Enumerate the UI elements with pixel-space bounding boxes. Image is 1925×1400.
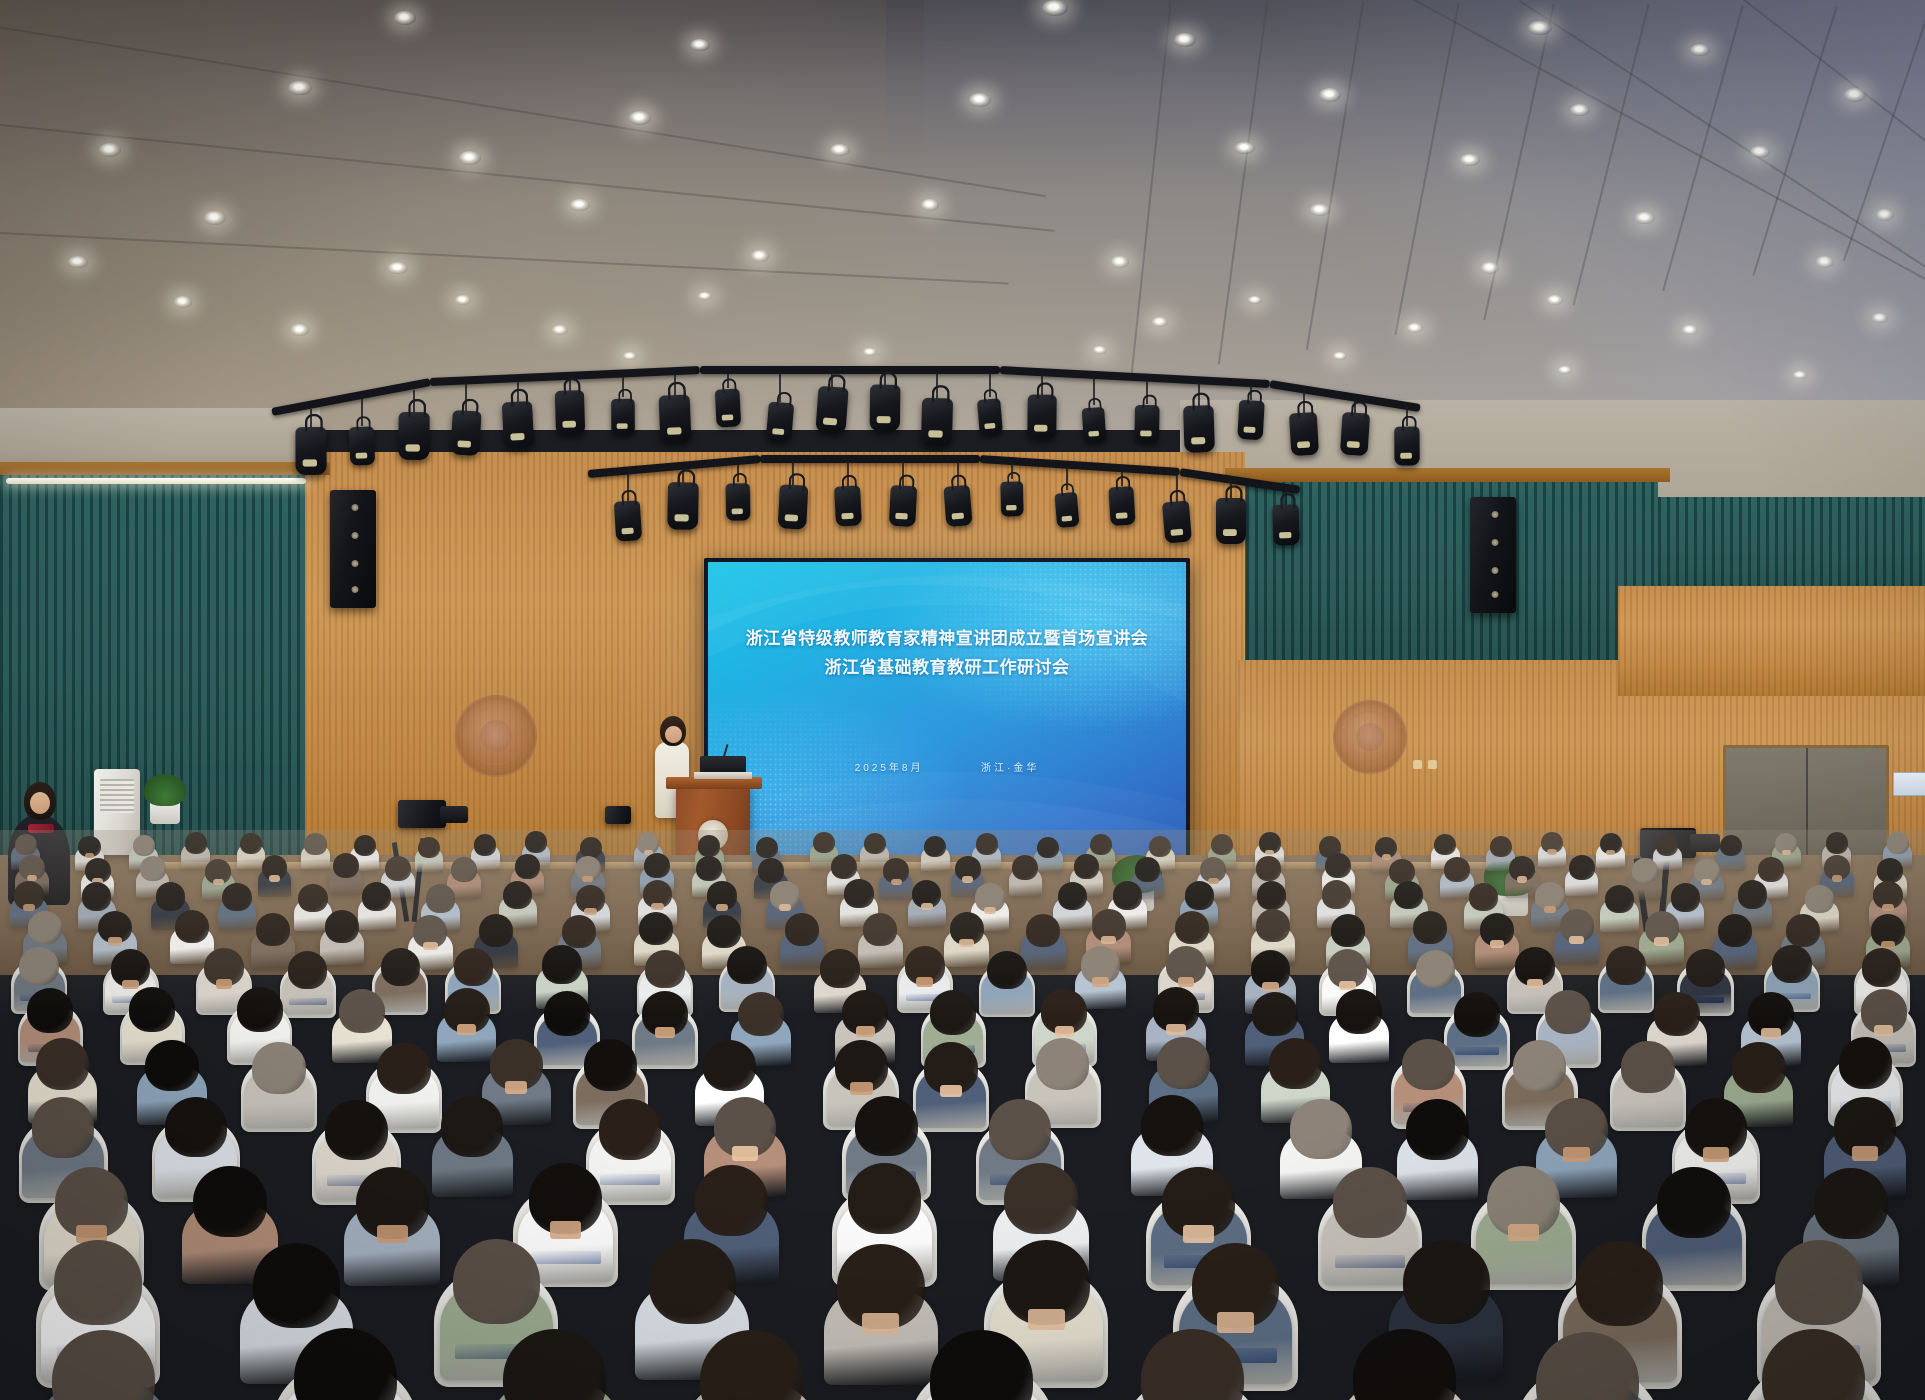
truss-front-fixture (398, 412, 429, 460)
truss-front-fixture (1134, 404, 1159, 442)
audience-member-head (1656, 835, 1678, 856)
audience-member-head (1402, 1039, 1455, 1091)
audience-member-head (237, 987, 283, 1032)
truss-rear-fixture (1162, 501, 1192, 544)
audience-member-head (1403, 1240, 1490, 1325)
audience-member-head (1732, 1042, 1785, 1094)
camera-lens-left (440, 806, 468, 823)
audience-member-head (1157, 1037, 1210, 1089)
audience-member-neck (862, 1313, 899, 1334)
audience-member-head (738, 992, 784, 1037)
screen-title-block: 浙江省特级教师教育家精神宣讲团成立暨首场宣讲会 浙江省基础教育教研工作研讨会 (708, 628, 1186, 680)
audience-member-neck (122, 980, 139, 989)
audience-member-head (256, 913, 290, 946)
audience-member-neck (457, 1024, 476, 1035)
ceiling-downlight (1690, 44, 1710, 56)
wall-trim-right (1225, 468, 1670, 482)
audience-member-head (1671, 883, 1700, 912)
audience-member-neck (1517, 876, 1528, 882)
audience-member-neck (651, 903, 663, 910)
audience-member-head (333, 853, 359, 878)
audience-member-head (165, 1097, 228, 1158)
audience-member-head (1545, 990, 1591, 1035)
audience-member-head (145, 1040, 198, 1092)
audience-member-head (503, 881, 532, 910)
audience-member-neck (1208, 878, 1219, 884)
audience-member-head (354, 835, 376, 856)
truss-front-fixture (977, 398, 1003, 436)
ceiling-downlight (459, 151, 481, 165)
audience-member-head (645, 950, 685, 988)
audience-member-neck (23, 904, 35, 911)
truss-rear-fixture (888, 485, 916, 527)
audience-member-head (1469, 883, 1498, 912)
truss-rear-fixture (1216, 498, 1246, 544)
audience-member-head (453, 1239, 540, 1324)
audience-member-neck (1101, 936, 1115, 944)
audience-member-neck (1178, 977, 1195, 986)
audience-member-neck (85, 853, 94, 858)
audience-member-head (1012, 855, 1038, 880)
audience-member-head (1322, 880, 1351, 909)
audience-member-neck (505, 1081, 527, 1094)
audience-member-head (381, 948, 421, 986)
truss-rear-fixture (943, 485, 972, 527)
audience-member-neck (1183, 1225, 1214, 1243)
ceiling-downlight (388, 262, 408, 274)
ceiling-downlight (1481, 262, 1499, 273)
screen-date: 2025年8月 (855, 759, 924, 774)
truss-front-fixture (1289, 412, 1319, 456)
ceiling-downlight (1750, 146, 1770, 158)
ceiling-downlight (1876, 209, 1894, 220)
audience-member-neck (856, 1026, 875, 1037)
audience-member-head (1269, 1038, 1322, 1090)
truss-front-fixture (869, 385, 900, 432)
audience-member-neck (1569, 936, 1583, 944)
truss-rear-fixture (725, 483, 750, 521)
audience-member-neck (1563, 1147, 1589, 1162)
audience-member-neck (584, 908, 596, 915)
line-array-speaker-left (330, 490, 376, 608)
audience-member-head (1720, 835, 1742, 856)
audience-member-head (140, 856, 166, 881)
audience-member-neck (1382, 854, 1391, 859)
audience-member-neck (921, 903, 933, 910)
audience-member-head (820, 949, 860, 987)
audience-member-head (1185, 881, 1214, 910)
ceiling-downlight (921, 199, 939, 210)
audience-member-head (1141, 1095, 1204, 1156)
wall-marker-b (1428, 760, 1437, 769)
audience-member-head (28, 911, 62, 944)
audience-member-head (1413, 911, 1447, 944)
truss-front-fixture (1340, 412, 1370, 456)
audience-member-head (298, 884, 327, 913)
audience-member-neck (1262, 982, 1279, 991)
audience-member-neck (779, 904, 791, 911)
truss-rear-fixture (1108, 486, 1135, 526)
truss-front-bar (700, 366, 1000, 374)
audience-member-head (855, 1096, 918, 1157)
ceiling-downlight (1547, 295, 1563, 305)
audience-member-neck (962, 876, 973, 882)
ceiling-downlight (552, 325, 568, 335)
audience-member-neck (1092, 977, 1109, 986)
audience-member-head (1576, 1241, 1663, 1326)
led-stage-screen: 浙江省特级教师教育家精神宣讲团成立暨首场宣讲会 浙江省基础教育教研工作研讨会 2… (704, 558, 1190, 866)
audience-member-head (1569, 855, 1595, 880)
audience-member-head (758, 858, 784, 883)
audience-member-neck (1782, 850, 1791, 855)
audience-member-head (785, 913, 819, 946)
audience-member-neck (1701, 879, 1712, 885)
audience-member-head (1839, 1037, 1892, 1089)
truss-front-fixture (555, 390, 586, 436)
audience-member-head (1887, 832, 1909, 853)
audience-member-head (377, 1043, 430, 1095)
truss-rear-fixture (1055, 492, 1080, 528)
audience-member-head (989, 1099, 1052, 1160)
truss-front-fixture (1238, 400, 1265, 440)
audience-member-head (1336, 989, 1382, 1034)
audience-member-neck (1265, 850, 1274, 855)
audience-member-head (426, 884, 455, 913)
audience-member-neck (1852, 1146, 1878, 1161)
audience-member-head (385, 856, 411, 881)
audience-member-neck (1882, 904, 1894, 911)
audience-member-neck (1527, 979, 1544, 988)
audience-member-head (1632, 858, 1658, 883)
usher-face (30, 792, 50, 814)
audience-member-head (976, 833, 998, 854)
ceiling-downlight (1570, 104, 1590, 116)
audience-member-head (1026, 914, 1060, 947)
ceiling-downlight (1319, 88, 1341, 102)
audience-member-head (175, 910, 209, 943)
audience-member-head (1331, 914, 1365, 947)
audience-member-head (1444, 857, 1470, 882)
audience-member-head (542, 945, 582, 983)
audience-member-head (1606, 946, 1646, 984)
ceiling-downlight (1042, 0, 1068, 16)
audience-member-head (304, 833, 326, 854)
truss-front-fixture (1394, 427, 1420, 466)
audience-member-neck (850, 1082, 872, 1095)
wall-trim-left (0, 462, 330, 475)
handheld-camera-center (605, 806, 631, 824)
audience-member-head (696, 856, 722, 881)
ceiling-downlight (1635, 212, 1655, 224)
audience-member-head (1758, 857, 1784, 882)
truss-front-fixture (714, 389, 741, 428)
audience-member-neck (213, 879, 224, 885)
audience-member-head (1621, 1041, 1674, 1093)
audience-member-head (698, 835, 720, 856)
truss-front-fixture (1082, 407, 1107, 443)
audience-member-head (599, 1099, 662, 1160)
truss-front-fixture (1183, 405, 1215, 453)
ceiling-downlight (1310, 204, 1330, 216)
line-array-speaker-right (1470, 497, 1516, 613)
audience-member-neck (916, 977, 933, 986)
audience-member-head (580, 837, 602, 858)
audience-member-head (727, 946, 767, 984)
audience-member-head (1718, 914, 1752, 947)
audience-member-head (1654, 992, 1700, 1037)
audience-member-head (1036, 1038, 1089, 1090)
audience-member-head (562, 915, 596, 948)
ceiling-downlight (1174, 33, 1196, 47)
wall-emblem-left (455, 695, 537, 777)
truss-front-fixture (659, 394, 692, 443)
audience-member-head (707, 915, 741, 948)
ceiling-downlight (1152, 317, 1168, 327)
ceiling-downlight (1816, 256, 1834, 267)
audience-member-neck (1166, 1024, 1185, 1035)
ceiling-downlight (1460, 154, 1480, 166)
audience-member-head (54, 1240, 141, 1325)
audience-member-head (1605, 885, 1634, 914)
truss-rear-fixture (667, 482, 699, 530)
audience-member-neck (1508, 1224, 1539, 1242)
audience-member-head (1149, 836, 1171, 857)
truss-rear-fixture (777, 485, 808, 530)
screen-location: 浙江·金华 (981, 759, 1039, 774)
audience-member-head (1333, 1167, 1407, 1238)
audience-member-head (525, 831, 547, 852)
screen-dot-texture (708, 562, 1186, 862)
audience-member-head (695, 1165, 769, 1236)
audience-member-neck (940, 1085, 962, 1098)
audience-member-head (1325, 853, 1351, 878)
truss-rear-fixture (614, 500, 642, 541)
audience-member-head (1826, 832, 1848, 853)
wall-light-strip-left (6, 478, 306, 484)
audience-member-head (864, 833, 886, 854)
audience-member-head (15, 834, 37, 855)
audience-member-head (240, 833, 262, 854)
audience-member-head (515, 854, 541, 879)
audience-member-head (454, 948, 494, 986)
audience-member-head (649, 1239, 736, 1324)
wall-marker-a (1413, 760, 1422, 769)
audience-member-head (1090, 834, 1112, 855)
audience-member-head (1252, 992, 1298, 1037)
audience-member-neck (959, 939, 973, 947)
audience-member-head (1058, 882, 1087, 911)
audience-member-neck (1055, 1026, 1074, 1037)
ceiling-downlight (68, 256, 88, 268)
ceiling-cool-tint (924, 0, 1925, 430)
audience-member-head (474, 834, 496, 855)
audience-member-head (1389, 859, 1415, 884)
audience-member-head (831, 854, 857, 879)
audience-member-neck (1028, 1309, 1065, 1330)
audience-member-neck (1654, 937, 1668, 945)
audience-member-head (185, 832, 207, 853)
audience-member-head (1786, 914, 1820, 947)
audience-member-head (1814, 1168, 1888, 1239)
audience-member-head (479, 914, 513, 947)
audience-member-neck (1217, 1312, 1254, 1333)
audience-member-head (813, 832, 835, 853)
audience-member-head (1257, 881, 1286, 910)
ceiling-downlight (204, 211, 226, 225)
audience-member-head (339, 989, 385, 1034)
truss-front-fixture (502, 401, 535, 449)
audience-member-head (544, 991, 590, 1036)
ceiling-downlight (751, 250, 769, 261)
ceiling-downlight (1111, 256, 1129, 267)
audience-member-head (1211, 834, 1233, 855)
truss-rear-fixture (1272, 504, 1300, 545)
audience-member-head (1113, 881, 1142, 910)
ceiling-downlight (1872, 313, 1888, 323)
ceiling-downlight (570, 199, 590, 211)
audience-member-head (441, 1096, 504, 1157)
truss-front-fixture (450, 410, 481, 456)
audience-member-head (288, 951, 328, 989)
truss-front-fixture (766, 401, 795, 442)
audience-member-head (1805, 885, 1834, 914)
audience-member-neck (1832, 875, 1843, 881)
audience-member-head (1772, 945, 1812, 983)
screen-title-line2: 浙江省基础教育教研工作研讨会 (726, 657, 1168, 680)
led-screen-surface: 浙江省特级教师教育家精神宣讲团成立暨首场宣讲会 浙江省基础教育教研工作研讨会 2… (708, 562, 1186, 862)
ceiling-downlight (1682, 325, 1698, 335)
audience-member-neck (1490, 940, 1504, 948)
truss-front-fixture (295, 427, 326, 475)
audience-member-neck (655, 1027, 674, 1038)
audience-member-head (193, 1166, 267, 1237)
audience-member-head (451, 857, 477, 882)
audience-member-head (1175, 911, 1209, 944)
wall-emblem-right (1333, 700, 1407, 774)
audience-member-neck (108, 937, 122, 945)
ceiling-downlight (1844, 88, 1866, 102)
audience-member-neck (732, 1146, 758, 1161)
audience-member-head (644, 853, 670, 878)
audience-member-head (1490, 836, 1512, 857)
audience-member-head (584, 1039, 637, 1091)
audience-member-neck (1761, 1028, 1780, 1039)
truss-front-fixture (611, 398, 635, 434)
truss-front-fixture (816, 385, 849, 433)
audience-member-head (1862, 948, 1902, 986)
audience-member-head (1406, 1099, 1469, 1160)
ceiling-downlight (174, 296, 192, 307)
truss-rear-fixture (834, 485, 862, 526)
audience-member-head (82, 882, 111, 911)
truss-front-fixture (349, 426, 375, 465)
video-camera-left (398, 800, 446, 828)
audience-member-neck (216, 979, 233, 988)
plant-foliage-3 (144, 774, 186, 806)
audience-member-head (924, 836, 946, 857)
audience-member-head (1290, 1099, 1353, 1160)
audience-member-head (1657, 1167, 1731, 1238)
audience-member-head (325, 910, 359, 943)
ceiling-downlight (99, 143, 121, 157)
audience-member-head (1004, 1163, 1078, 1234)
ceiling-downlight (455, 295, 471, 305)
audience-member-head (863, 913, 897, 946)
presenter-face (665, 726, 682, 743)
audience-member-neck (1547, 849, 1556, 854)
audience-member-head (639, 912, 673, 945)
audience-member-head (36, 1038, 89, 1090)
audience-member-head (362, 882, 391, 911)
audience-member-head (1686, 949, 1726, 987)
audience-member-neck (269, 875, 280, 881)
ceiling-downlight (1407, 323, 1423, 333)
audience-member-head (1135, 857, 1161, 882)
audience-member-head (703, 1040, 756, 1092)
ceiling-downlight (291, 324, 309, 335)
audience-member-neck (582, 876, 593, 882)
audience-member-head (1877, 858, 1903, 883)
ceiling-downlight (969, 93, 991, 107)
audience-member-head (844, 879, 873, 908)
truss-rear-fixture (1001, 482, 1024, 517)
audience-member-head (1256, 856, 1282, 881)
audience-member-head (1738, 880, 1767, 909)
audience-member-head (1416, 950, 1456, 988)
audience-member-head (1394, 881, 1423, 910)
door-sign (1893, 772, 1925, 796)
audience-member-neck (1874, 1025, 1893, 1036)
audience-member-neck (1703, 1147, 1729, 1162)
audience-member-head (756, 837, 778, 858)
truss-front-fixture (1027, 395, 1057, 440)
audience-member-head (222, 883, 251, 912)
audience-member-neck (423, 942, 437, 950)
audience-seating (0, 830, 1925, 1400)
audience-member-neck (550, 1221, 581, 1239)
ceiling-downlight (629, 111, 651, 125)
audience-member-neck (984, 907, 996, 914)
audience-member-head (19, 947, 59, 985)
audience-member-head (325, 1100, 388, 1161)
screen-footer-block: 2025年8月 浙江·金华 (708, 759, 1186, 774)
audience-member-head (1513, 1040, 1566, 1092)
audience-member-neck (891, 879, 902, 885)
podium-paper (694, 772, 752, 779)
conference-hall-photo: 浙江省特级教师教育家精神宣讲团成立暨首场宣讲会 浙江省基础教育教研工作研讨会 2… (0, 0, 1925, 1400)
stage-wood-wall-far-right (1618, 586, 1925, 696)
audience-member-head (930, 990, 976, 1035)
audience-member-head (987, 951, 1027, 989)
audience-member-neck (377, 1225, 408, 1243)
audience-member-head (1256, 909, 1290, 942)
ceiling-downlight (690, 39, 710, 51)
audience-member-head (129, 987, 175, 1032)
audience-member-head (1454, 992, 1500, 1037)
truss-front-fixture (921, 398, 953, 447)
audience-member-head (252, 1042, 305, 1094)
ceiling-downlight (830, 144, 850, 156)
audience-member-head (848, 1163, 922, 1234)
screen-title-line1: 浙江省特级教师教育家精神宣讲团成立暨首场宣讲会 (726, 628, 1168, 651)
audience-member-head (1037, 837, 1059, 858)
audience-member-head (253, 1243, 340, 1328)
audience-member-head (156, 882, 185, 911)
audience-member-head (32, 1097, 95, 1158)
ceiling-downlight (1235, 142, 1255, 154)
audience-member-head (418, 837, 440, 858)
audience-member-head (133, 835, 155, 856)
